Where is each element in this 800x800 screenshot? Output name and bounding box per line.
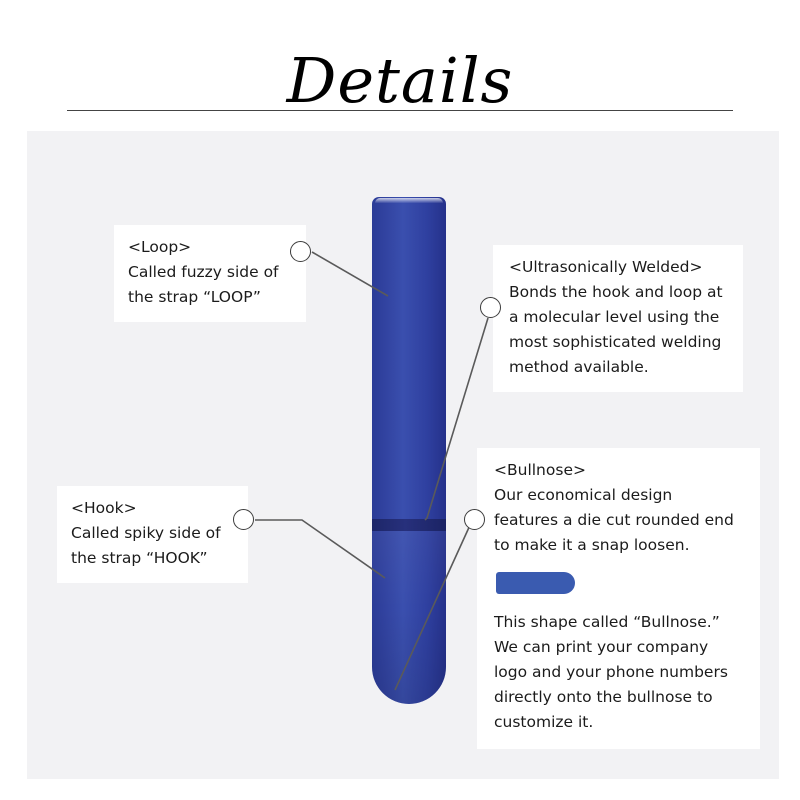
callout-welded-heading: <Ultrasonically Welded>: [509, 255, 729, 280]
callout-loop-line-2: the strap “LOOP”: [128, 285, 292, 310]
welded-marker-icon: [480, 297, 501, 318]
callout-loop-heading: <Loop>: [128, 235, 292, 260]
callout-welded-line-1: Bonds the hook and loop at: [509, 280, 729, 305]
callout-bullnose-line-3: to make it a snap loosen.: [494, 533, 746, 558]
callout-ultrasonically-welded: <Ultrasonically Welded> Bonds the hook a…: [493, 245, 743, 392]
page-header: Details: [0, 0, 800, 131]
callout-bullnose-line-7: directly onto the bullnose to: [494, 685, 746, 710]
bullnose-shape-swatch: [496, 572, 575, 594]
callout-bullnose-line-4: This shape called “Bullnose.”: [494, 610, 746, 635]
strap-top-highlight: [375, 198, 443, 203]
callout-hook-line-2: the strap “HOOK”: [71, 546, 234, 571]
callout-bullnose-heading: <Bullnose>: [494, 458, 746, 483]
strap-bullnose-end: [372, 531, 446, 704]
callout-bullnose-line-1: Our economical design: [494, 483, 746, 508]
strap-product-image: [372, 197, 446, 704]
callout-bullnose-line-5: We can print your company: [494, 635, 746, 660]
callout-bullnose-line-8: customize it.: [494, 710, 746, 735]
callout-loop: <Loop> Called fuzzy side of the strap “L…: [114, 225, 306, 322]
callout-bullnose-line-6: logo and your phone numbers: [494, 660, 746, 685]
callout-hook: <Hook> Called spiky side of the strap “H…: [57, 486, 248, 583]
hook-marker-icon: [233, 509, 254, 530]
callout-loop-line-1: Called fuzzy side of: [128, 260, 292, 285]
callout-hook-heading: <Hook>: [71, 496, 234, 521]
callout-welded-line-4: method available.: [509, 355, 729, 380]
callout-welded-line-3: most sophisticated welding: [509, 330, 729, 355]
leader-line-hook: [255, 520, 385, 578]
callout-hook-line-1: Called spiky side of: [71, 521, 234, 546]
callout-bullnose: <Bullnose> Our economical design feature…: [477, 448, 760, 749]
callout-welded-line-2: a molecular level using the: [509, 305, 729, 330]
page-title: Details: [0, 46, 800, 116]
loop-marker-icon: [290, 241, 311, 262]
details-panel: <Loop> Called fuzzy side of the strap “L…: [27, 131, 779, 779]
strap-loop-section: [372, 197, 446, 522]
bullnose-marker-icon: [464, 509, 485, 530]
callout-bullnose-line-2: features a die cut rounded end: [494, 508, 746, 533]
